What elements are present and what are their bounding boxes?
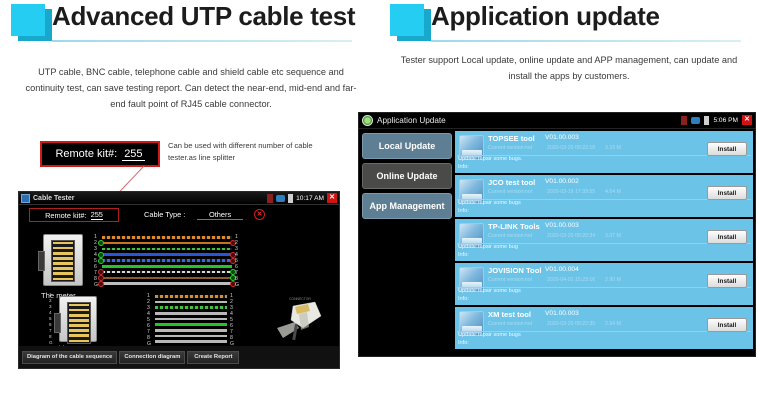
- install-button[interactable]: Install: [707, 318, 747, 332]
- app-info-label: Info:: [458, 208, 469, 214]
- wire-G: [102, 282, 232, 285]
- app-version: V01.00.003: [545, 310, 579, 317]
- cable-type-value[interactable]: Others: [197, 210, 243, 220]
- wire-status-dot-left-5: [98, 258, 104, 264]
- app-version: V01.00.003: [545, 134, 579, 141]
- sidebar-tab-local-update[interactable]: Local Update: [362, 133, 452, 159]
- title-underline-right: [431, 40, 741, 42]
- cable-test-pin-numbers-left: 12345678G: [147, 293, 151, 345]
- app-date: 2020-03-20 09:22:18: [547, 145, 595, 151]
- wire-8: [155, 335, 227, 338]
- wire-5: [155, 318, 227, 321]
- page-title-left: Advanced UTP cable test: [52, 1, 355, 32]
- svg-text:CONNECTOR: CONNECTOR: [289, 297, 311, 301]
- app-version: V01.00.003: [545, 222, 579, 229]
- app-date: 2020-03-20 09:20:34: [547, 233, 595, 239]
- remote-kit-callout-note: Can be used with different number of cab…: [168, 140, 333, 164]
- cable-test-jack-tab: [54, 313, 61, 333]
- right-description: Tester support Local update, online upda…: [393, 52, 745, 84]
- left-section-header: Advanced UTP cable test: [0, 0, 379, 48]
- app-date: 2020-03-20 09:22:35: [547, 321, 595, 327]
- app-current-version-label: Current version:not: [488, 233, 532, 239]
- install-button[interactable]: Install: [707, 230, 747, 244]
- wire-3: [102, 248, 232, 251]
- app-date: 2020-04-01 15:23:16: [547, 277, 595, 283]
- square-accent-icon-right: [390, 4, 424, 36]
- right-section-header: Application update: [379, 0, 758, 48]
- application-update-body: Local UpdateOnline UpdateApp Management …: [359, 129, 755, 357]
- app-name: JCO test tool: [488, 178, 535, 187]
- app-name: TOPSEE tool: [488, 134, 535, 143]
- app-date: 2020-03-19 17:39:55: [547, 189, 595, 195]
- close-icon[interactable]: ✕: [327, 193, 337, 203]
- app-info-label: Info:: [458, 296, 469, 302]
- wire-4: [155, 312, 227, 315]
- cable-tester-button-bar: Diagram of the cable sequence Connection…: [19, 346, 339, 368]
- cable-test-rj45-jack-icon: [59, 296, 97, 342]
- app-current-version-label: Current version:not: [488, 145, 532, 151]
- network-icon-right: [691, 117, 700, 124]
- app-version: V01.00.004: [545, 266, 579, 273]
- wire-4: [102, 253, 232, 256]
- install-button[interactable]: Install: [707, 186, 747, 200]
- wire-2: [155, 301, 227, 304]
- sdcard-icon: [267, 194, 273, 203]
- app-size: 2.90 M: [605, 277, 621, 283]
- clock-label-right: 5:06 PM: [713, 117, 738, 124]
- wire-7: [155, 329, 227, 332]
- cable-test-jack-pins: [69, 304, 89, 342]
- wire-1: [102, 236, 232, 239]
- remote-kit-field[interactable]: Remote kit#: 255: [29, 208, 119, 222]
- remote-kit-value: 255: [91, 210, 103, 220]
- wire-status-dot-left-2: [98, 240, 104, 246]
- app-current-version-label: Current version:not: [488, 277, 532, 283]
- app-size: 3.15 M: [605, 145, 621, 151]
- square-accent-icon: [11, 4, 45, 36]
- create-report-button[interactable]: Create Report: [187, 351, 239, 364]
- wire-6: [102, 265, 232, 268]
- cable-test-pin-numbers-right: 12345678G: [230, 293, 234, 345]
- app-size: 2.94 M: [605, 321, 621, 327]
- remote-kit-callout-value: 255: [122, 148, 144, 161]
- install-button[interactable]: Install: [707, 142, 747, 156]
- app-list-row[interactable]: JOVISION ToolV01.00.004Current version:n…: [455, 263, 753, 307]
- app-list-row[interactable]: JCO test toolV01.00.002Current version:n…: [455, 175, 753, 219]
- app-name: TP-LINK Tools: [488, 222, 540, 231]
- wire-5: [102, 259, 232, 262]
- wire-1: [155, 295, 227, 298]
- app-version: V01.00.002: [545, 178, 579, 185]
- application-update-screenshot: Application Update 5:06 PM ✕ Local Updat…: [358, 112, 756, 357]
- title-underline-left: [52, 40, 352, 42]
- remote-kit-callout-label: Remote kit#:: [55, 148, 117, 160]
- application-update-title: Application Update: [377, 116, 446, 125]
- app-name: XM test tool: [488, 310, 531, 319]
- close-icon-right[interactable]: ✕: [742, 115, 752, 125]
- application-update-sidebar: Local UpdateOnline UpdateApp Management: [359, 129, 455, 357]
- app-name: JOVISION Tool: [488, 266, 541, 275]
- app-current-version-label: Current version:not: [488, 321, 532, 327]
- meter-pin-numbers-right: 12345678G: [235, 234, 239, 287]
- app-current-version-label: Current version:not: [488, 189, 532, 195]
- app-size: 4.64 M: [605, 189, 621, 195]
- cable-type-label: Cable Type :: [144, 210, 185, 219]
- rj45-connector-photo: CONNECTOR: [275, 294, 327, 342]
- clock-label: 10:17 AM: [296, 195, 324, 202]
- remote-kit-label: Remote kit#:: [45, 211, 87, 220]
- wire-7: [102, 271, 232, 274]
- cable-test-pin-numbers-outer: 12345678G: [49, 292, 53, 344]
- application-update-statusbar: 5:06 PM ✕: [681, 115, 752, 125]
- app-list-row[interactable]: TOPSEE toolV01.00.003Current version:not…: [455, 131, 753, 175]
- meter-rj45-jack-icon: [43, 234, 83, 286]
- wire-3: [155, 306, 227, 309]
- panel-advanced-utp-cable-test: Advanced UTP cable test UTP cable, BNC c…: [0, 0, 379, 400]
- app-description: Update:repair some bugs.: [458, 156, 522, 162]
- sdcard-icon-right: [681, 116, 687, 125]
- clear-icon[interactable]: ✕: [254, 209, 265, 220]
- application-update-titlebar: Application Update 5:06 PM ✕: [359, 113, 755, 129]
- install-button[interactable]: Install: [707, 274, 747, 288]
- wire-status-dot-left-4: [98, 252, 104, 258]
- cable-tester-toolbar: Remote kit#: 255 Cable Type : Others ✕: [19, 205, 339, 223]
- cable-tester-titlebar: Cable Tester 10:17 AM ✕: [19, 192, 339, 205]
- connection-diagram-button[interactable]: Connection diagram: [119, 351, 185, 364]
- app-info-label: Info:: [458, 340, 469, 346]
- app-description: Update:repair some bug: [458, 244, 518, 250]
- wire-status-dot-left-G: [98, 281, 104, 287]
- app-description: Update:repair some bugs: [458, 332, 521, 338]
- gear-icon: [362, 115, 373, 126]
- meter-wire-map: [102, 236, 232, 285]
- network-icon: [276, 195, 285, 202]
- wire-2: [102, 242, 232, 245]
- app-info-label: Info:: [458, 164, 469, 170]
- left-description: UTP cable, BNC cable, telephone cable an…: [22, 64, 360, 112]
- wire-8: [102, 277, 232, 280]
- application-update-list: TOPSEE toolV01.00.003Current version:not…: [455, 129, 755, 357]
- app-list-row[interactable]: XM test toolV01.00.003Current version:no…: [455, 307, 753, 351]
- wire-6: [155, 323, 227, 326]
- battery-icon-right: [704, 116, 709, 125]
- app-info-label: Info:: [458, 252, 469, 258]
- app-description: Update:repair some bugs: [458, 288, 521, 294]
- meter-jack-pins: [53, 242, 73, 280]
- sidebar-tab-online-update[interactable]: Online Update: [362, 163, 452, 189]
- app-size: 3.07 M: [605, 233, 621, 239]
- app-list-row[interactable]: TP-LINK ToolsV01.00.003Current version:n…: [455, 219, 753, 263]
- remote-kit-callout: Remote kit#: 255: [40, 141, 160, 167]
- cable-tester-screenshot: Cable Tester 10:17 AM ✕ Remote kit#: 255…: [18, 191, 340, 369]
- diagram-of-cable-sequence-button[interactable]: Diagram of the cable sequence: [22, 351, 117, 364]
- battery-icon: [288, 194, 293, 203]
- cable-test-wire-map: [155, 295, 227, 343]
- page-title-right: Application update: [431, 1, 660, 32]
- cable-tester-title: Cable Tester: [33, 195, 75, 202]
- sidebar-tab-app-management[interactable]: App Management: [362, 193, 452, 219]
- page-root: Advanced UTP cable test UTP cable, BNC c…: [0, 0, 758, 400]
- cable-tester-statusbar: 10:17 AM ✕: [267, 193, 337, 203]
- cable-tester-app-icon: [21, 194, 30, 203]
- app-description: Update:repair some bugs: [458, 200, 521, 206]
- wire-G: [155, 340, 227, 343]
- meter-jack-tab: [38, 251, 45, 271]
